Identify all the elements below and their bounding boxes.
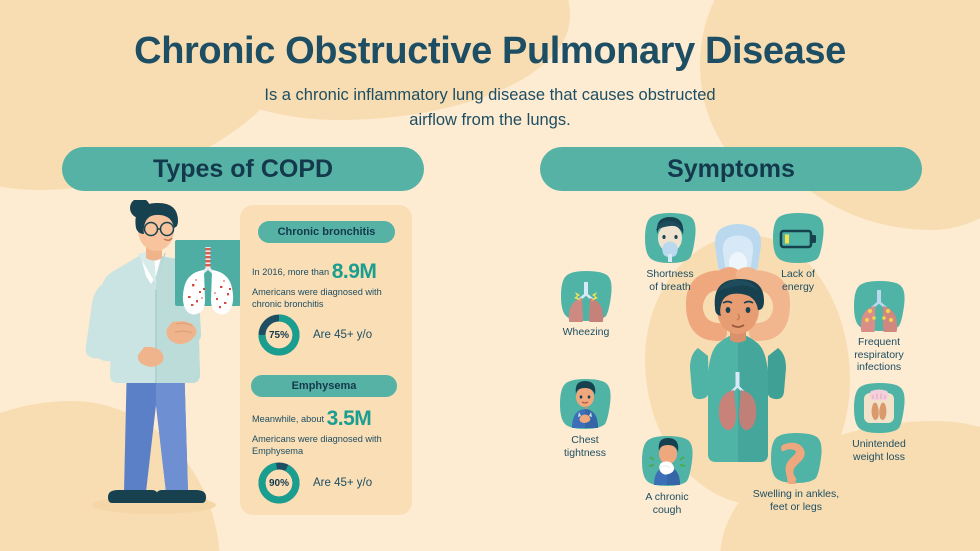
weight-scale-icon xyxy=(853,382,905,434)
stat-chronic-bronchitis: In 2016, more than 8.9M Americans were d… xyxy=(252,258,402,310)
tag-emphysema-label: Emphysema xyxy=(292,380,357,392)
section-header-types-label: Types of COPD xyxy=(153,155,333,184)
symptom-wheezing: Wheezing xyxy=(527,270,645,339)
stat-emphysema-lead: Meanwhile, about xyxy=(252,414,327,424)
stat-bronchitis-trail: Americans were diagnosed with chronic br… xyxy=(252,287,382,309)
stat-bronchitis-value: 8.9M xyxy=(332,260,377,283)
page-title: Chronic Obstructive Pulmonary Disease xyxy=(0,30,980,73)
tag-emphysema: Emphysema xyxy=(251,375,397,397)
symptom-frequent-respiratory-infections-label: Frequent respiratory infections xyxy=(854,336,904,374)
donut-75-caption: Are 45+ y/o xyxy=(313,329,372,341)
symptom-swelling-ankles-feet-legs-label: Swelling in ankles, feet or legs xyxy=(753,488,839,513)
infected-lungs-icon xyxy=(853,280,905,332)
coughing-person-icon xyxy=(641,435,693,487)
doctor-holding-xray-illustration xyxy=(72,200,242,518)
section-header-types-of-copd: Types of COPD xyxy=(62,147,424,191)
page-subtitle: Is a chronic inflammatory lung disease t… xyxy=(0,83,980,133)
section-header-symptoms: Symptoms xyxy=(540,147,922,191)
symptom-wheezing-label: Wheezing xyxy=(563,326,610,339)
donut-90-caption: Are 45+ y/o xyxy=(313,477,372,489)
donut-90-percent-label: 90% xyxy=(256,460,302,506)
chest-pain-icon xyxy=(559,378,611,430)
symptom-chronic-cough: A chronic cough xyxy=(608,435,726,516)
infographic-canvas: Chronic Obstructive Pulmonary Disease Is… xyxy=(0,0,980,551)
donut-chart-75-percent: 75% xyxy=(256,312,302,358)
stat-emphysema: Meanwhile, about 3.5M Americans were dia… xyxy=(252,405,404,457)
nebulizer-face-icon xyxy=(644,212,696,264)
section-header-symptoms-label: Symptoms xyxy=(667,155,795,184)
symptom-chest-tightness-label: Chest tightness xyxy=(564,434,606,459)
donut-chart-90-percent: 90% xyxy=(256,460,302,506)
symptom-lack-of-energy-label: Lack of energy xyxy=(781,268,815,293)
symptom-frequent-respiratory-infections: Frequent respiratory infections xyxy=(820,280,938,374)
donut-75-percent-label: 75% xyxy=(256,312,302,358)
stat-emphysema-trail: Americans were diagnosed with Emphysema xyxy=(252,434,382,456)
header: Chronic Obstructive Pulmonary Disease Is… xyxy=(0,0,980,133)
tag-chronic-bronchitis-label: Chronic bronchitis xyxy=(278,226,376,238)
donut-chart-emphysema-group: 90% Are 45+ y/o xyxy=(256,460,372,506)
symptom-swelling-ankles-feet-legs: Swelling in ankles, feet or legs xyxy=(737,432,855,513)
stat-emphysema-value: 3.5M xyxy=(327,407,372,430)
swollen-leg-icon xyxy=(770,432,822,484)
low-battery-icon xyxy=(772,212,824,264)
symptom-chronic-cough-label: A chronic cough xyxy=(645,491,688,516)
symptom-shortness-of-breath-label: Shortness of breath xyxy=(646,268,693,293)
donut-chart-bronchitis-group: 75% Are 45+ y/o xyxy=(256,312,372,358)
lungs-lightning-icon xyxy=(560,270,612,322)
tag-chronic-bronchitis: Chronic bronchitis xyxy=(258,221,395,243)
stat-bronchitis-lead: In 2016, more than xyxy=(252,267,332,277)
symptom-unintended-weight-loss-label: Unintended weight loss xyxy=(852,438,906,463)
